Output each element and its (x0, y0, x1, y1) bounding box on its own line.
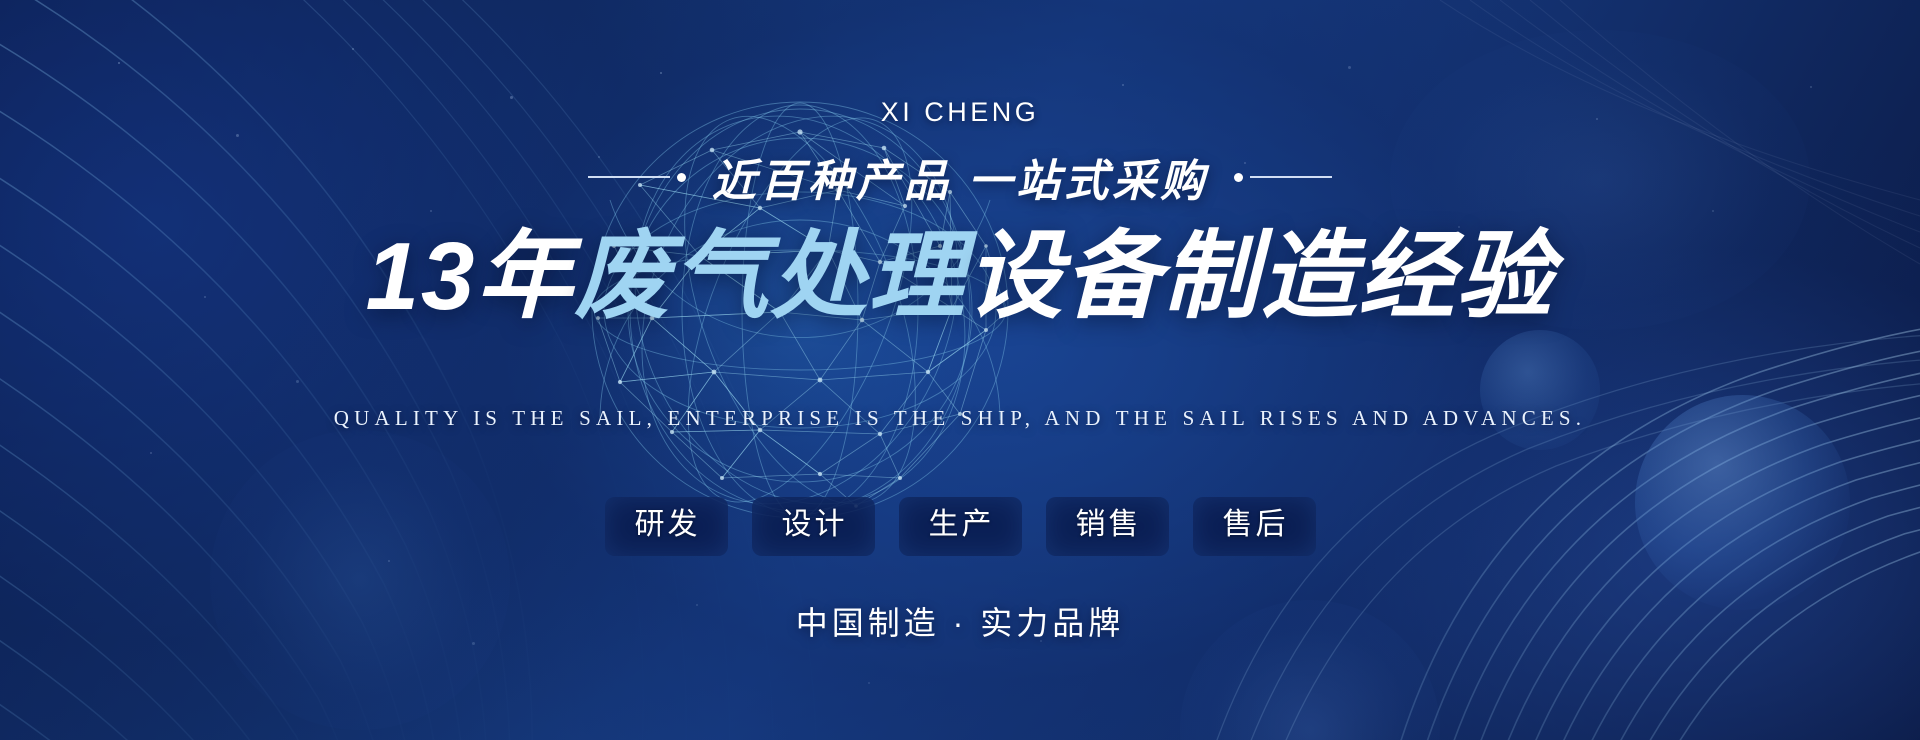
headline-part-one: 13年 (366, 223, 575, 330)
subtitle-row: 近百种产品 一站式采购 (0, 145, 1920, 209)
glow-circle-small (1480, 330, 1600, 450)
glow-blob-left (210, 430, 510, 730)
service-badge[interactable]: 设计 (752, 497, 875, 556)
footer-slogan: 中国制造 · 实力品牌 (0, 598, 1920, 644)
service-badge[interactable]: 销售 (1046, 497, 1169, 556)
service-badge[interactable]: 研发 (605, 497, 728, 556)
english-tagline: QUALITY IS THE SAIL, ENTERPRISE IS THE S… (0, 406, 1920, 431)
decorative-line-left (588, 173, 686, 182)
decorative-line-right (1234, 173, 1332, 182)
deco-bar-left (588, 176, 670, 178)
headline-accent: 废气处理 (574, 223, 966, 330)
headline-part-two: 设备制造经验 (966, 223, 1554, 330)
service-badge[interactable]: 生产 (899, 497, 1022, 556)
headline: 13年废气处理设备制造经验 (0, 222, 1920, 332)
hero-banner: XI CHENG 近百种产品 一站式采购 13年废气处理设备制造经验 QUALI… (0, 0, 1920, 740)
deco-bar-right (1250, 176, 1332, 178)
brand-name-english: XI CHENG (0, 97, 1920, 128)
deco-dot-right (1234, 173, 1243, 182)
deco-dot-left (677, 173, 686, 182)
service-badge[interactable]: 售后 (1193, 497, 1316, 556)
subtitle-text: 近百种产品 一站式采购 (712, 145, 1208, 209)
service-badge-list: 研发 设计 生产 销售 售后 (0, 497, 1920, 556)
